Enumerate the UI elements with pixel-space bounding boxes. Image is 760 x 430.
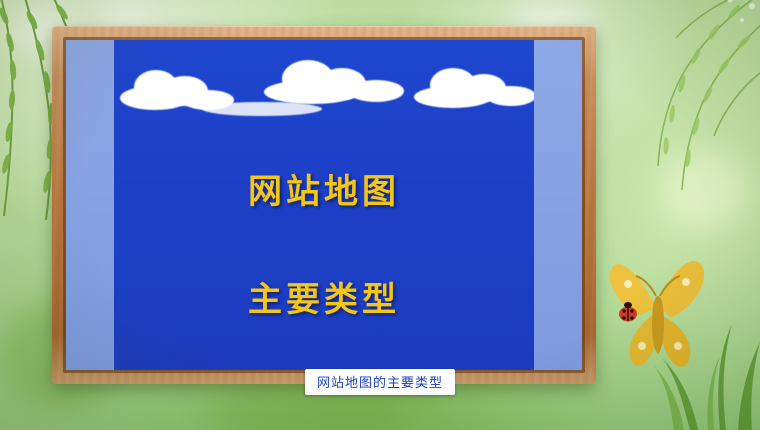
vignette-overlay bbox=[0, 0, 760, 430]
video-frame: 网站地图 主要类型 bbox=[0, 0, 760, 430]
